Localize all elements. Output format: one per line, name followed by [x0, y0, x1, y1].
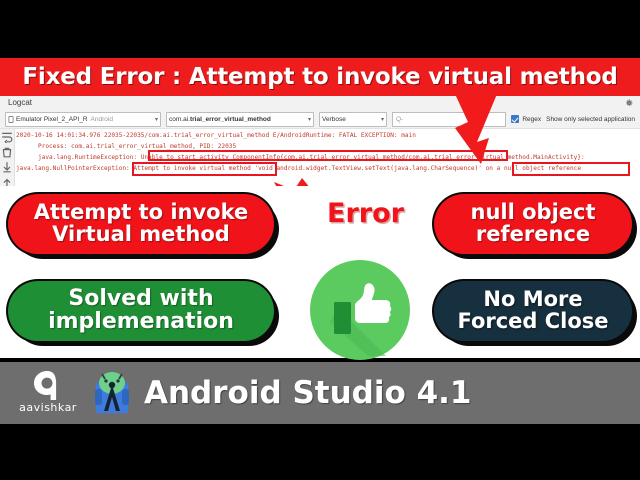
- footer-bar: aavishkar Android Studio 4.1: [0, 362, 640, 424]
- badge-solved-with-implementation: Solved with implemenation: [8, 281, 274, 341]
- regex-toggle[interactable]: Regex: [511, 115, 541, 123]
- device-selector[interactable]: Emulator Pixel_2_API_R Android ▾: [5, 112, 161, 127]
- package-selector-value: trial_error_virtual_method: [190, 116, 271, 123]
- device-icon: [8, 116, 14, 123]
- log-line: 2020-10-16 14:01:34.976 22035-22035/com.…: [16, 130, 640, 141]
- scroll-to-end-icon[interactable]: [1, 161, 13, 173]
- chevron-down-icon: ▾: [377, 116, 384, 123]
- logcat-side-toolbar: [0, 129, 15, 188]
- log-level-value: Verbose: [322, 116, 346, 123]
- aavishkar-logo-icon: [30, 369, 64, 401]
- badge-line-1: Attempt to invoke: [34, 202, 249, 224]
- logcat-toolbar: Emulator Pixel_2_API_R Android ▾ com.ai.…: [0, 110, 640, 129]
- device-selector-value: Emulator Pixel_2_API_R: [16, 116, 88, 123]
- screenshot-root: Fixed Error : Attempt to invoke virtual …: [0, 0, 640, 480]
- chevron-down-icon: ▾: [304, 116, 311, 123]
- badge-attempt-virtual-method: Attempt to invoke Virtual method: [8, 194, 274, 254]
- brand-name: aavishkar: [10, 401, 86, 414]
- device-selector-suffix: Android: [88, 116, 113, 123]
- gear-icon[interactable]: [624, 98, 634, 108]
- banner-title: Fixed Error : Attempt to invoke virtual …: [22, 64, 617, 90]
- badge-no-more-forced-close: No More Forced Close: [434, 281, 632, 341]
- badge-line-2: reference: [476, 224, 590, 246]
- regex-label: Regex: [522, 116, 541, 123]
- badge-line-2: Virtual method: [52, 224, 230, 246]
- thumbs-up-icon: [308, 258, 412, 362]
- wrap-text-icon[interactable]: [1, 131, 13, 143]
- badge-line-1: null object: [471, 202, 596, 224]
- error-label: Error: [327, 198, 404, 229]
- logcat-titlebar: Logcat: [0, 96, 640, 111]
- brand-logo: aavishkar: [10, 367, 86, 419]
- annotation-arrow-down: [437, 92, 507, 178]
- package-selector-prefix: com.ai.: [169, 116, 190, 123]
- badge-line-1: No More: [483, 289, 582, 311]
- chevron-down-icon: ▾: [151, 116, 158, 123]
- badge-line-1: Solved with: [68, 288, 213, 311]
- trash-icon[interactable]: [1, 146, 13, 158]
- title-banner: Fixed Error : Attempt to invoke virtual …: [0, 58, 640, 96]
- app-title: Android Studio 4.1: [144, 375, 471, 411]
- regex-checkbox[interactable]: [511, 115, 519, 123]
- log-level-selector[interactable]: Verbose ▾: [319, 112, 387, 127]
- badge-null-object-reference: null object reference: [434, 194, 632, 254]
- log-highlight-box-null: [512, 162, 630, 176]
- android-studio-icon: [90, 369, 134, 417]
- search-placeholder: Q-: [396, 116, 403, 123]
- show-only-selected-app-toggle[interactable]: Show only selected application: [546, 116, 635, 123]
- logcat-title-label: Logcat: [8, 98, 32, 107]
- package-selector[interactable]: com.ai. trial_error_virtual_method ▾: [166, 112, 314, 127]
- badge-line-2: implemenation: [48, 311, 234, 334]
- log-highlight-box-attempt: [132, 162, 277, 176]
- footer-black-bar: [0, 424, 640, 480]
- badge-line-2: Forced Close: [457, 311, 608, 333]
